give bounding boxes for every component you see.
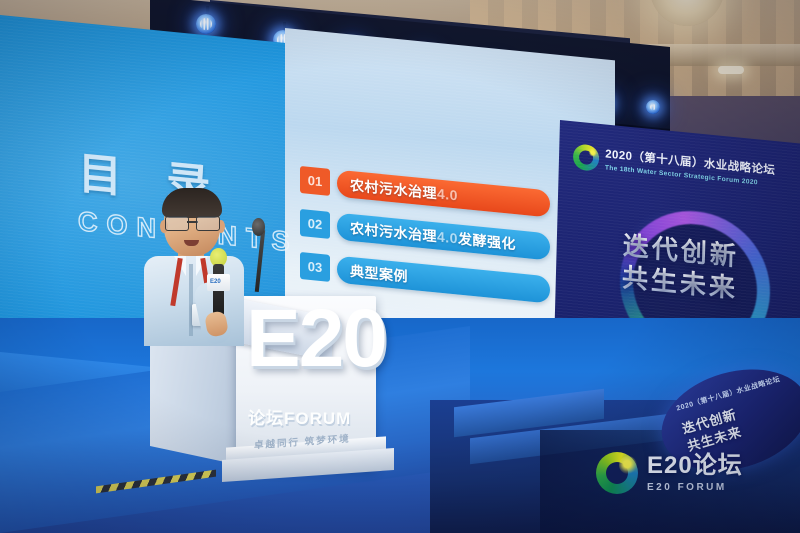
podium-logo-text: E20 [246, 298, 386, 380]
speaker-person: E20 [134, 186, 254, 346]
agenda-label: 农村污水治理4.0 [350, 174, 458, 205]
e20-forum-brand-logo: E20论坛 E20 FORUM [596, 452, 743, 494]
agenda-label: 农村污水治理4.0发酵强化 [350, 217, 516, 253]
event-title-cn: 2020（第十八届）水业战略论坛 [605, 148, 775, 179]
slogan-line-2: 共生未来 [556, 255, 800, 311]
agenda-item-02: 02 农村污水治理4.0发酵强化 [300, 209, 550, 261]
eyeglasses [165, 216, 220, 229]
event-title-en: The 18th Water Sector Strategic Forum 20… [605, 164, 775, 188]
microphone-flag: E20 [207, 274, 230, 291]
agenda-number: 02 [300, 209, 330, 239]
lens-right [196, 216, 220, 231]
mic-flag-label: E20 [210, 279, 221, 285]
downlight [718, 66, 744, 74]
e20-orb-icon [596, 452, 638, 494]
agenda-number: 01 [300, 166, 330, 196]
lens-left [165, 216, 189, 231]
stage-spotlight [646, 100, 660, 114]
stage-spotlight [196, 14, 216, 34]
forum-orb-icon [573, 143, 600, 171]
podium-logo-block: E20 [246, 298, 374, 410]
agenda-number: 03 [300, 252, 330, 282]
backdrop-slogan: 迭代创新 共生未来 [556, 224, 800, 312]
agenda-bar: 农村污水治理4.0发酵强化 [337, 213, 550, 261]
backdrop-header: 2020（第十八届）水业战略论坛 The 18th Water Sector S… [573, 143, 776, 189]
podium-forum-text: 论坛FORUM [248, 404, 351, 429]
conference-stage-photo: 目 录 CONTENTS 01 农村污水治理4.0 02 农村污水治理4.0发酵… [0, 0, 800, 533]
slogan-line-1: 迭代创新 [556, 224, 800, 280]
gooseneck-mic-head [252, 218, 265, 236]
brand-name-cn: E20论坛 [647, 454, 743, 478]
brand-name-en: E20 FORUM [647, 482, 743, 493]
speaker-hair [162, 188, 222, 218]
